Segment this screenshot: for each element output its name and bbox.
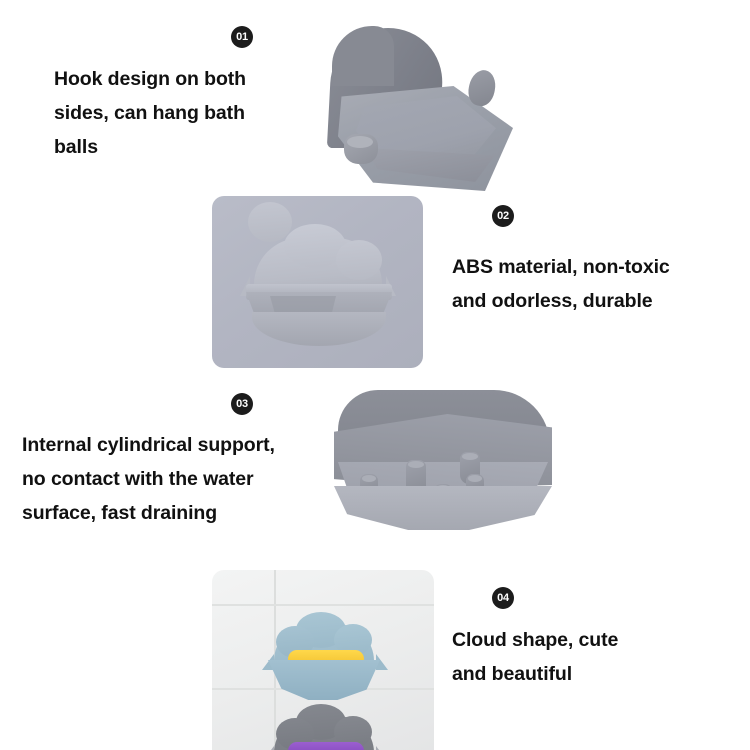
hook-right-shape — [376, 746, 388, 750]
product-photo-mounted-on-tile-wall — [212, 570, 434, 750]
dish-outer-lip-shape — [334, 486, 552, 530]
dish-tray-shape — [268, 660, 380, 700]
hook-left-shape — [262, 746, 274, 750]
feature-badge-04: 04 — [492, 587, 514, 609]
feature-caption-01: Hook design on both sides, can hang bath… — [54, 62, 314, 164]
product-feature-infographic: 01 Hook design on both sides, can hang b… — [0, 0, 750, 750]
feature-caption-02: ABS material, non-toxic and odorless, du… — [452, 250, 722, 318]
product-photo-cloud-dish-front — [212, 196, 423, 368]
feature-caption-03: Internal cylindrical support, no contact… — [22, 428, 332, 530]
soap-bar-purple — [288, 742, 364, 750]
feature-badge-01: 01 — [231, 26, 253, 48]
dish-cloud-lobe-shape — [332, 26, 394, 86]
feature-badge-03: 03 — [231, 393, 253, 415]
cloud-body-shape — [254, 238, 382, 290]
dish-scallop-bottom-shape — [252, 312, 386, 346]
feature-badge-02: 02 — [492, 205, 514, 227]
product-photo-hook-corner-closeup — [322, 22, 540, 192]
cloud-lobe-left-shape — [248, 202, 292, 242]
tile-grout-horizontal-upper — [212, 604, 434, 606]
support-peg-shape — [344, 134, 378, 164]
product-photo-interior-supports — [330, 390, 560, 545]
feature-caption-04: Cloud shape, cute and beautiful — [452, 623, 722, 691]
